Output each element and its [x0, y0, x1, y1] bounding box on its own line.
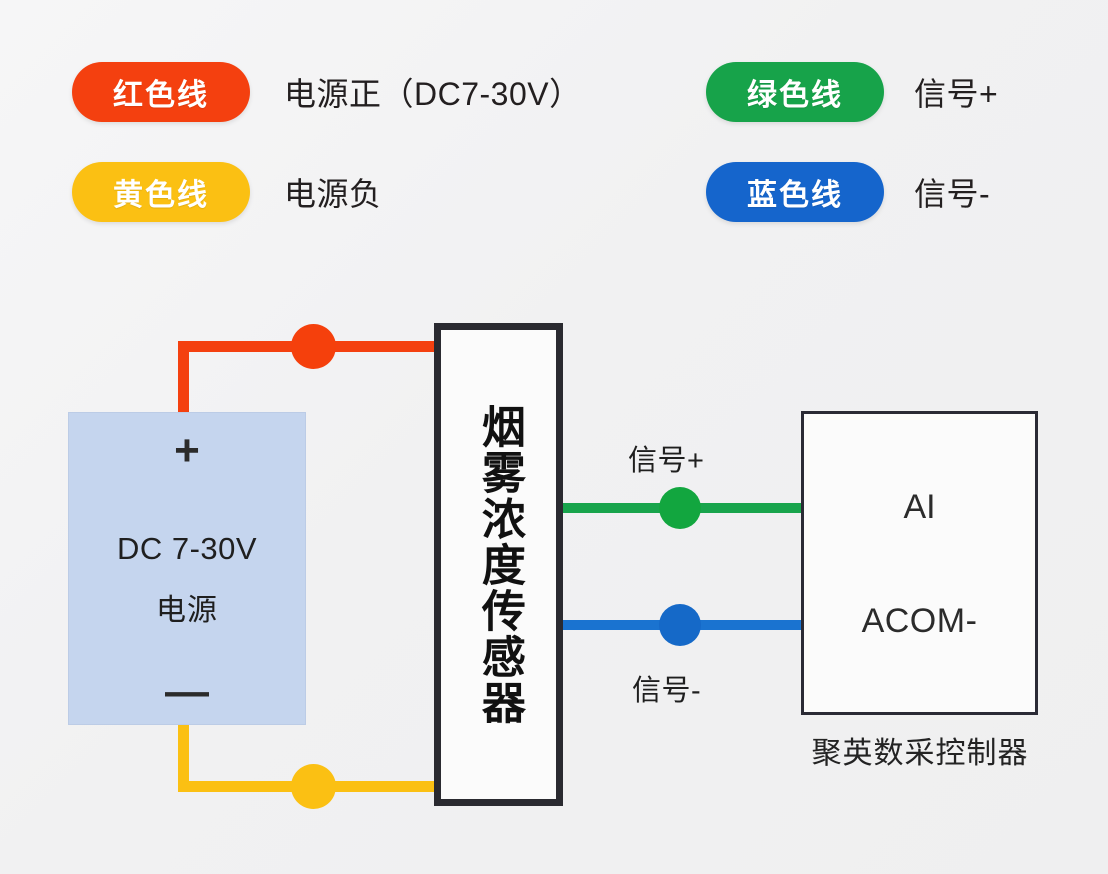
- power-supply-label: DC 7-30V 电源: [69, 531, 305, 629]
- diagram-canvas: 红色线 电源正（DC7-30V） 黄色线 电源负 绿色线 信号+ 蓝色线 信号-…: [0, 0, 1108, 874]
- controller-block: AI ACOM-: [801, 411, 1038, 715]
- power-plus-terminal: +: [69, 429, 305, 473]
- controller-caption: 聚英数采控制器: [790, 728, 1050, 772]
- controller-terminal-acom: ACOM-: [804, 602, 1035, 641]
- power-supply-block: + DC 7-30V 电源 —: [68, 412, 306, 725]
- wiring-diagram: 信号+ 信号- + DC 7-30V 电源 — 烟雾浓度传感器 AI ACOM-…: [0, 0, 1108, 874]
- power-supply-voltage: DC 7-30V: [69, 531, 305, 567]
- wire-blue-junction-dot: [659, 604, 701, 646]
- controller-terminal-ai: AI: [804, 488, 1035, 527]
- power-supply-name: 电源: [69, 585, 305, 629]
- smoke-sensor-label: 烟雾浓度传感器: [475, 404, 522, 726]
- power-minus-terminal: —: [69, 670, 305, 714]
- wire-yellow-junction-dot: [291, 764, 336, 809]
- wire-red-junction-dot: [291, 324, 336, 369]
- wire-red-vertical: [178, 341, 189, 421]
- signal-positive-label: 信号+: [628, 437, 704, 479]
- smoke-sensor-block: 烟雾浓度传感器: [434, 323, 563, 806]
- signal-negative-label: 信号-: [632, 667, 701, 709]
- wire-green-junction-dot: [659, 487, 701, 529]
